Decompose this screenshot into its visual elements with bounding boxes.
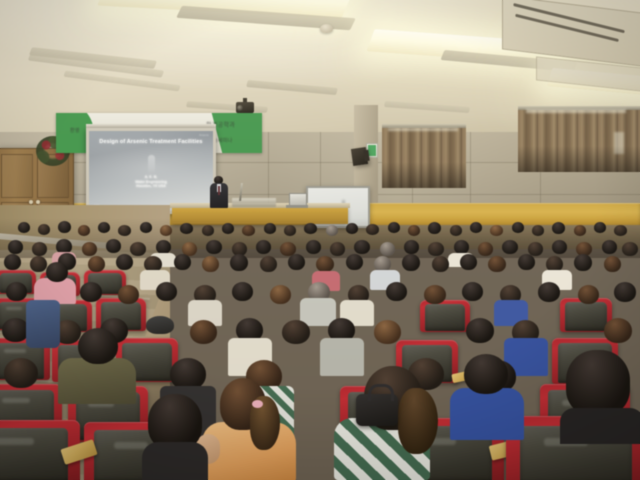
slide-title: Design of Arsenic Treatment Facilities [89, 139, 213, 145]
hair-tie [252, 400, 263, 408]
window-curtain-left [382, 124, 466, 188]
ceiling-light-frame-9 [384, 101, 470, 113]
person-right-edge [560, 350, 640, 434]
man-olive-jacket [58, 328, 138, 398]
woman-orange-top [196, 378, 306, 480]
smoke-detector [320, 24, 333, 33]
slide-subtitle-line-3: Houston, TX USA [136, 184, 166, 188]
handbag-strap [368, 384, 394, 401]
window-curtain-right [518, 106, 640, 172]
projection-screen: Design of Arsenic Treatment Facilities A… [86, 128, 216, 214]
slide-corner-mark: Arsenic [199, 133, 209, 137]
slide-subtitle: A. E. B. Water Engineering Houston, TX U… [89, 175, 213, 189]
slide-content: Design of Arsenic Treatment Facilities A… [89, 131, 213, 211]
lecture-hall-photograph: 환영 환경공학과 학술세미나 Design of Arsenic Treatme… [0, 0, 640, 480]
laptop-base [286, 205, 308, 208]
slide-subtitle-line-1: A. E. B. [145, 175, 158, 179]
person-dark-hair-foreground [140, 394, 212, 480]
presenter-tie [218, 186, 220, 195]
audience-row-foreground [0, 400, 640, 480]
person-pink-top [34, 262, 78, 302]
ceiling-light-frame-7 [246, 80, 338, 95]
presenter [208, 176, 230, 210]
person-blue-jeans [26, 300, 60, 348]
banner-left-text: 환영 [70, 127, 80, 134]
slide-subtitle-line-2: Water Engineering [135, 180, 167, 184]
man-blue-shirt [450, 354, 530, 440]
